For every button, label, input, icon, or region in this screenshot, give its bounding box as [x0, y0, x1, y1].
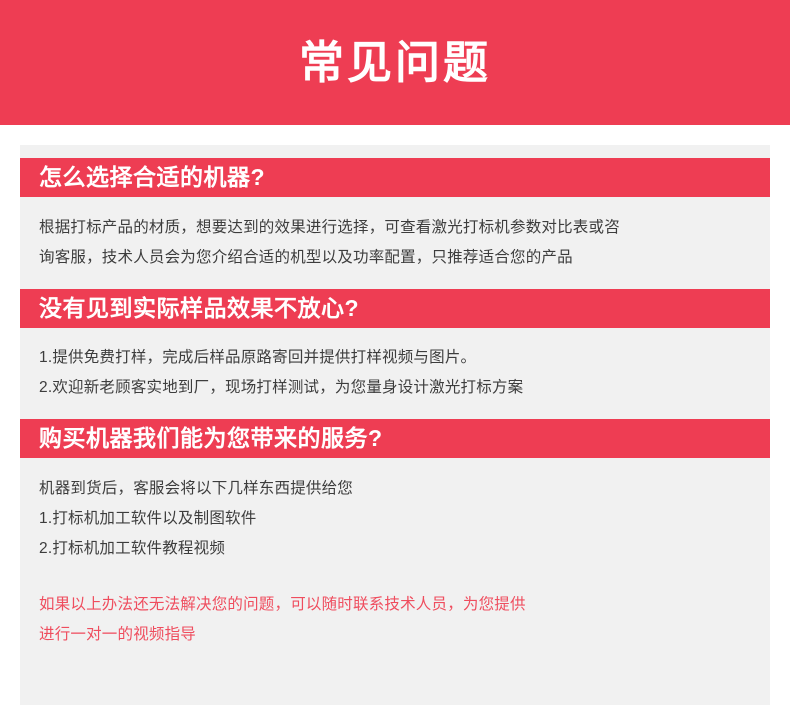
faq-section-2: 没有见到实际样品效果不放心? 1.提供免费打样，完成后样品原路寄回并提供打样视频… [20, 289, 770, 419]
faq-answer-line: 2.打标机加工软件教程视频 [39, 534, 748, 564]
faq-note-line: 如果以上办法还无法解决您的问题，可以随时联系技术人员，为您提供 [39, 590, 748, 620]
page-title: 常见问题 [299, 40, 491, 85]
faq-answer-line: 1.提供免费打样，完成后样品原路寄回并提供打样视频与图片。 [39, 343, 748, 373]
faq-answer-line: 机器到货后，客服会将以下几样东西提供给您 [39, 474, 748, 504]
page-banner: 常见问题 [0, 0, 790, 125]
faq-panel: 怎么选择合适的机器? 根据打标产品的材质，想要达到的效果进行选择，可查看激光打标… [20, 145, 770, 705]
faq-section-3: 购买机器我们能为您带来的服务? 机器到货后，客服会将以下几样东西提供给您 1.打… [20, 419, 770, 564]
faq-section-1: 怎么选择合适的机器? 根据打标产品的材质，想要达到的效果进行选择，可查看激光打标… [20, 145, 770, 289]
faq-question-text-2: 没有见到实际样品效果不放心? [39, 297, 359, 320]
faq-page: 常见问题 怎么选择合适的机器? 根据打标产品的材质，想要达到的效果进行选择，可查… [0, 0, 790, 725]
faq-answer-2: 1.提供免费打样，完成后样品原路寄回并提供打样视频与图片。 2.欢迎新老顾客实地… [20, 328, 770, 419]
faq-answer-line: 2.欢迎新老顾客实地到厂，现场打样测试，为您量身设计激光打标方案 [39, 373, 748, 403]
spacer-top-1 [20, 145, 770, 158]
faq-answer-3: 机器到货后，客服会将以下几样东西提供给您 1.打标机加工软件以及制图软件 2.打… [20, 458, 770, 564]
faq-question-header-1[interactable]: 怎么选择合适的机器? [20, 158, 770, 197]
faq-answer-line: 询客服，技术人员会为您介绍合适的机型以及功率配置，只推荐适合您的产品 [39, 243, 748, 273]
faq-answer-line: 1.打标机加工软件以及制图软件 [39, 504, 748, 534]
faq-question-text-3: 购买机器我们能为您带来的服务? [39, 427, 383, 450]
faq-note-line: 进行一对一的视频指导 [39, 620, 748, 650]
faq-question-text-1: 怎么选择合适的机器? [39, 166, 265, 189]
faq-contact-note: 如果以上办法还无法解决您的问题，可以随时联系技术人员，为您提供 进行一对一的视频… [20, 564, 770, 650]
faq-question-header-2[interactable]: 没有见到实际样品效果不放心? [20, 289, 770, 328]
faq-question-header-3[interactable]: 购买机器我们能为您带来的服务? [20, 419, 770, 458]
faq-answer-1: 根据打标产品的材质，想要达到的效果进行选择，可查看激光打标机参数对比表或咨 询客… [20, 197, 770, 289]
faq-answer-line: 根据打标产品的材质，想要达到的效果进行选择，可查看激光打标机参数对比表或咨 [39, 213, 748, 243]
